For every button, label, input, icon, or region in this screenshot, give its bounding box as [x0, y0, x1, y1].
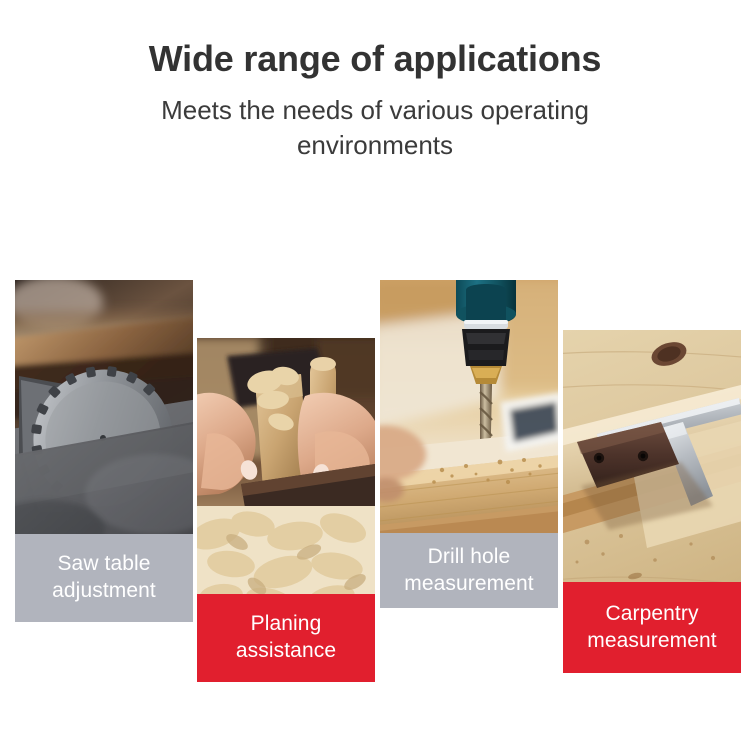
application-panels: Saw table adjustment [0, 0, 750, 750]
caption-line-1: Drill hole [428, 544, 511, 571]
application-card-planing[interactable]: Planing assistance [197, 338, 375, 682]
application-card-caption: Drill hole measurement [380, 533, 558, 608]
application-card-carpentry[interactable]: Carpentry measurement [563, 330, 741, 673]
application-card-saw-table[interactable]: Saw table adjustment [15, 280, 193, 622]
application-card-caption: Planing assistance [197, 594, 375, 682]
caption-line-2: assistance [236, 638, 336, 665]
caption-line-1: Planing [251, 611, 322, 638]
caption-line-1: Saw table [57, 551, 150, 578]
application-card-drill-hole[interactable]: Drill hole measurement [380, 280, 558, 608]
application-card-caption: Saw table adjustment [15, 534, 193, 622]
application-showcase-page: Wide range of applications Meets the nee… [0, 0, 750, 750]
caption-line-1: Carpentry [605, 601, 698, 628]
caption-line-2: adjustment [52, 578, 156, 605]
caption-line-2: measurement [587, 628, 717, 655]
application-card-caption: Carpentry measurement [563, 582, 741, 673]
caption-line-2: measurement [404, 571, 534, 598]
